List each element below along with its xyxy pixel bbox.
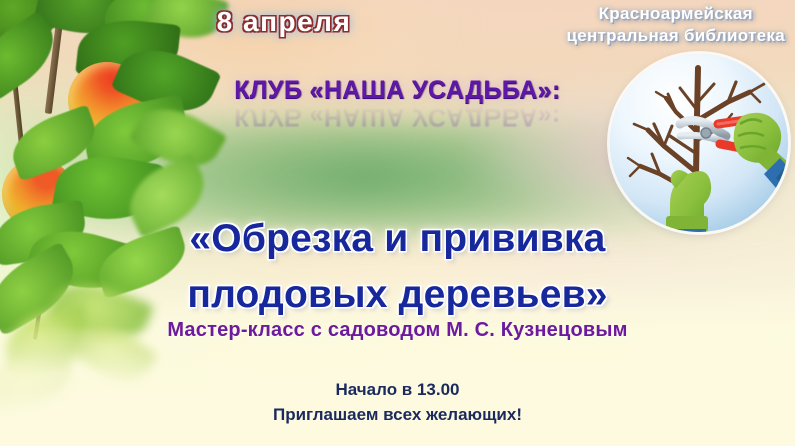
event-invitation: Приглашаем всех желающих! (0, 403, 795, 428)
event-poster: 8 апреля Красноармейская центральная биб… (0, 0, 795, 446)
library-name-line2: центральная библиотека (566, 25, 785, 47)
pruning-shears-tree-illustration (610, 54, 788, 232)
main-title-line1: «Обрезка и прививка (0, 212, 795, 266)
library-name: Красноармейская центральная библиотека (566, 3, 785, 48)
page-title: «Обрезка и прививка плодовых деревьев» (0, 212, 795, 322)
event-footer: Начало в 13.00 Приглашаем всех желающих! (0, 378, 795, 427)
event-start-time: Начало в 13.00 (0, 378, 795, 403)
main-title-line2: плодовых деревьев» (0, 268, 795, 322)
library-name-line1: Красноармейская (566, 3, 785, 25)
master-class-subtitle: Мастер-класс с садоводом М. С. Кузнецовы… (0, 319, 795, 342)
event-date: 8 апреля (196, 6, 372, 38)
pruning-illustration-svg (610, 54, 788, 232)
